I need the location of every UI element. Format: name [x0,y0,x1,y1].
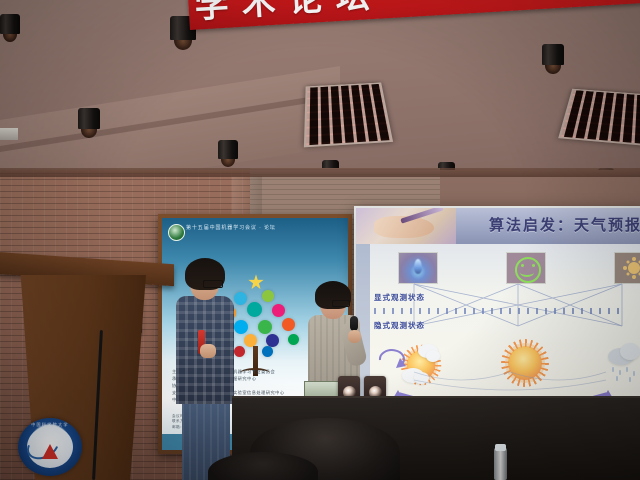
speaking-presenter-hand [348,330,361,343]
slide-title: 算法启发：天气预报 [489,214,640,235]
ceiling-spotlight-icon [78,108,100,136]
trellis-diagram [396,282,632,330]
wall-sensor-box [0,128,18,140]
poster-tree-star [248,274,264,290]
poster-tree-leaf [262,346,273,357]
smiley-observation-icon [506,252,546,284]
wall-trim [0,168,640,177]
emblem-text: 中国科学院大学 [26,422,74,432]
emblem-letter-a [42,444,58,459]
poster-tree-leaf [234,320,248,334]
sun-observation-icon [614,252,640,284]
glasses-icon [332,300,350,307]
standing-presenter-plaid-hand [200,344,216,358]
ceiling-spotlight-icon [542,44,564,72]
poster-tree-leaf [234,292,247,305]
poster-tree-leaf [234,346,245,357]
slide-header-photo [356,208,456,244]
poster-tree-leaf [282,318,295,331]
poster-tree-leaf [272,304,285,317]
state-dot-row [374,308,626,314]
water-bottle [494,448,507,480]
poster-tree-leaf [288,334,299,345]
explicit-state-label: 显式观测状态 [374,292,425,303]
ceiling-grid-light-icon [304,82,393,147]
water-bottle-cap [495,444,506,451]
ceiling-grid-light-icon [558,89,640,147]
ceiling-spotlight-icon [0,14,20,40]
poster-title: 第十五届中国机器学习会议 · 论坛 [186,225,336,232]
presentation-hall-photo: 学术论坛 第十五届中国机器学习会议 · 论坛 [0,0,640,480]
flame-observation-icon [398,252,438,284]
ceiling-spotlight-icon [218,140,238,165]
handheld-microphone-icon [350,316,358,331]
self-loop-arrow [376,344,410,370]
poster-tree-leaf [247,302,262,317]
poster-tree-leaf [258,320,272,334]
poster-tree-leaf [262,290,274,302]
hidden-state-label: 隐式观测状态 [374,320,425,331]
podium-emblem: 中国科学院大学 [18,418,82,476]
glasses-icon [203,280,223,288]
poster-logo-icon [168,224,185,241]
